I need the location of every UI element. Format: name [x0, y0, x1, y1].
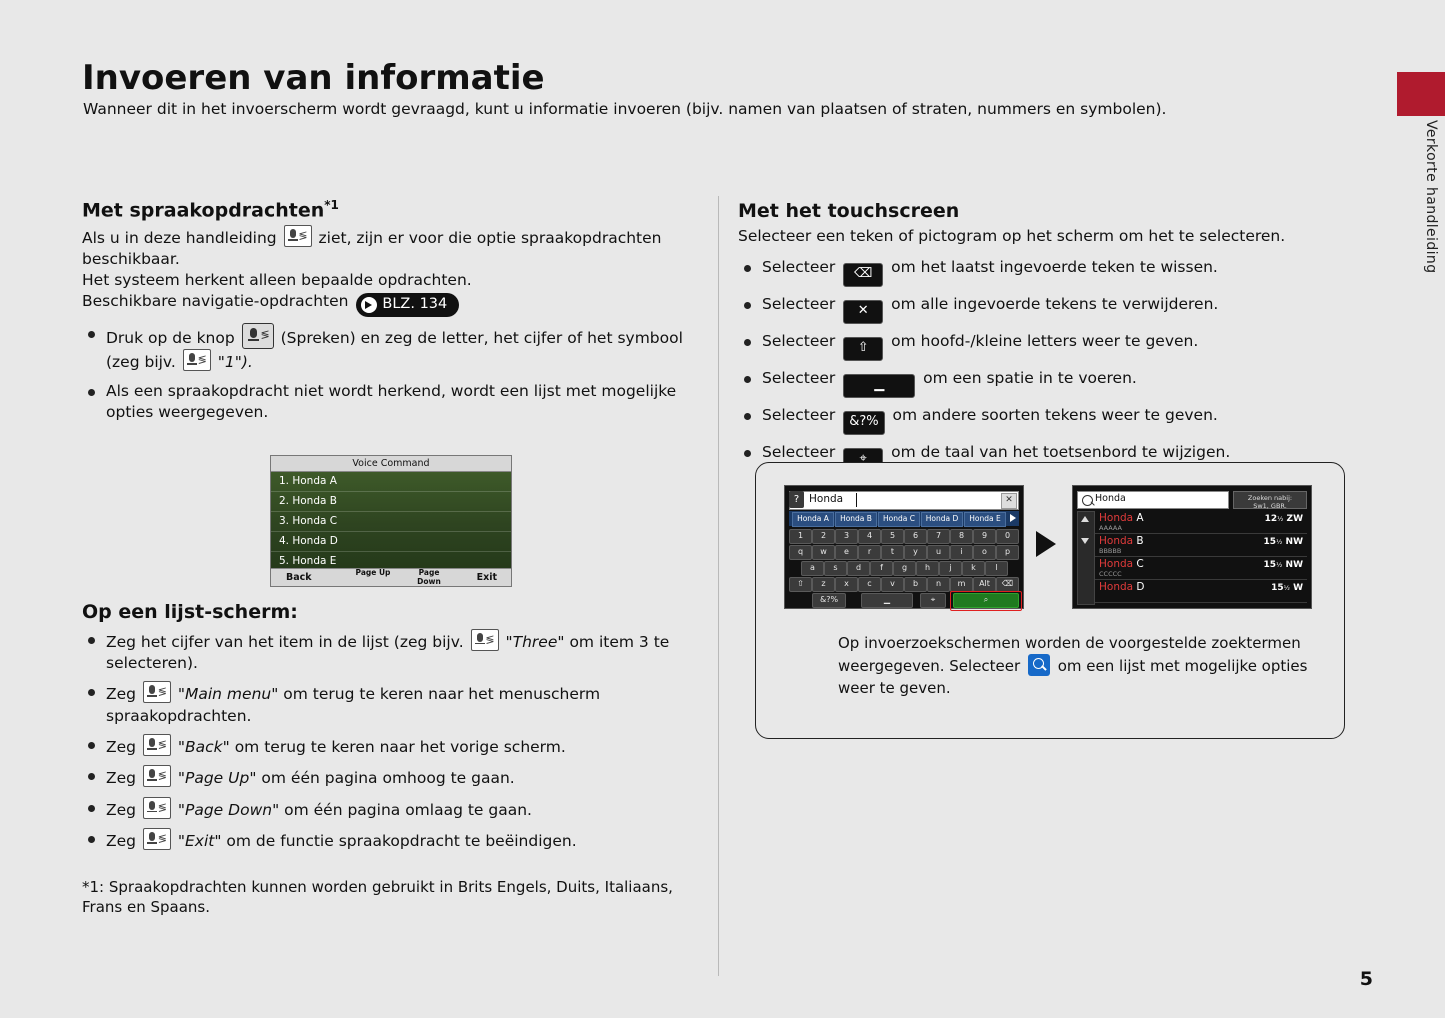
tb2-post: om hoofd-/kleine letters weer te geven. — [891, 332, 1198, 350]
mic-wave-glyph: ≶ — [158, 832, 167, 846]
suggestion-bar: Honda A Honda B Honda C Honda D Honda E — [789, 511, 1019, 526]
key-l[interactable]: l — [985, 561, 1008, 576]
mic-wave-glyph: ≶ — [158, 685, 167, 699]
mic-icon: ≶ — [183, 349, 211, 371]
page-down-button[interactable]: Page Down — [406, 568, 452, 586]
list-item: Selecteer ⇧ om hoofd-/kleine letters wee… — [738, 331, 1358, 361]
lb5-quote: Exit — [185, 832, 214, 850]
talk-button-icon: ≶ — [242, 323, 274, 349]
key-x[interactable]: x — [835, 577, 858, 592]
arrow-right-icon — [361, 297, 377, 313]
voice-command-footer: Back Page Up Page Down Exit — [271, 568, 511, 586]
list-item: 4. Honda D — [271, 532, 511, 552]
search-near-badge[interactable]: Zoeken nabij: Sw1, GBR. — [1233, 491, 1307, 509]
lb5-post: om de functie spraakopdracht te beëindig… — [226, 832, 576, 850]
result-name: Honda B — [1099, 535, 1144, 547]
section-title-touchscreen: Met het touchscreen — [738, 200, 1358, 222]
list-item: Selecteer ⌫ om het laatst ingevoerde tek… — [738, 257, 1358, 287]
search-input-value: Honda — [1095, 493, 1126, 504]
lb4-quote: Page Down — [185, 801, 272, 819]
key-o[interactable]: o — [973, 545, 996, 560]
tb2-pre: Selecteer — [762, 332, 835, 350]
mic-icon: ≶ — [143, 681, 171, 703]
suggestion-item[interactable]: Honda C — [878, 512, 920, 527]
lb1-post: om terug te keren naar het menuscherm sp… — [106, 685, 600, 724]
scrollbar[interactable] — [1077, 511, 1095, 605]
list-item: Zeg ≶ "Page Down" om één pagina omlaag t… — [82, 797, 702, 821]
back-button[interactable]: Back — [286, 572, 312, 583]
mic-wave-glyph: ≶ — [298, 229, 307, 243]
result-direction: NW — [1286, 537, 1303, 547]
space-bar-icon[interactable]: ▁ — [861, 593, 913, 608]
mic-icon: ≶ — [284, 225, 312, 247]
tb0-post: om het laatst ingevoerde teken te wissen… — [891, 258, 1218, 276]
bullet1-a: Druk op de knop — [106, 329, 235, 347]
result-distance-unit: ½ — [1277, 515, 1283, 523]
result-name-suffix: D — [1133, 581, 1144, 593]
mic-icon: ≶ — [143, 797, 171, 819]
symbols-icon[interactable]: &?% — [843, 411, 884, 435]
keyboard-row-q: q w e r t y u i o p — [789, 545, 1019, 559]
key-g[interactable]: g — [893, 561, 916, 576]
close-icon[interactable]: ✕ — [1001, 493, 1017, 509]
key-w[interactable]: w — [812, 545, 835, 560]
key-b[interactable]: b — [904, 577, 927, 592]
result-name-suffix: C — [1133, 558, 1144, 570]
list-item: Zeg ≶ "Main menu" om terug te keren naar… — [82, 681, 702, 727]
search-key-highlight — [950, 591, 1022, 611]
result-distance-value: 15 — [1264, 560, 1277, 570]
voice-intro-a: Als u in deze handleiding — [82, 229, 277, 247]
result-name-highlight: Honda — [1099, 558, 1133, 570]
tb3-pre: Selecteer — [762, 369, 835, 387]
result-distance-value: 12 — [1265, 514, 1278, 524]
table-row[interactable]: Honda D 15½ W — [1095, 580, 1307, 603]
backspace-icon[interactable]: ⌫ — [843, 263, 883, 287]
suggestion-next-icon[interactable] — [1010, 514, 1016, 522]
section-title-voice: Met spraakopdrachten*1 — [82, 198, 702, 221]
list-item: Zeg ≶ "Back" om terug te keren naar het … — [82, 734, 702, 758]
key-f[interactable]: f — [870, 561, 893, 576]
result-direction: W — [1293, 583, 1303, 593]
touchscreen-intro: Selecteer een teken of pictogram op het … — [738, 226, 1358, 247]
mic-wave-glyph: ≶ — [485, 633, 494, 647]
result-distance-unit: ½ — [1276, 561, 1282, 569]
talk-wave-glyph: ≶ — [260, 327, 269, 343]
result-subtext: BBBBB — [1099, 547, 1121, 555]
section-title-list-screen: Op een lijst-scherm: — [82, 601, 702, 623]
key-u[interactable]: u — [927, 545, 950, 560]
key-h[interactable]: h — [916, 561, 939, 576]
result-name: Honda A — [1099, 512, 1144, 524]
lb5-pre: Zeg — [106, 832, 136, 850]
tb1-post: om alle ingevoerde tekens te verwijderen… — [891, 295, 1218, 313]
tb3-post: om een spatie in te voeren. — [923, 369, 1137, 387]
result-name-suffix: B — [1133, 535, 1144, 547]
result-distance: 15½ NW — [1264, 560, 1303, 570]
key-i[interactable]: i — [950, 545, 973, 560]
key-v[interactable]: v — [881, 577, 904, 592]
key-t[interactable]: t — [881, 545, 904, 560]
list-item: Selecteer &?% om andere soorten tekens w… — [738, 405, 1358, 435]
page-reference-label: BLZ. 134 — [382, 296, 447, 312]
result-distance-unit: ½ — [1284, 584, 1290, 592]
page-number: 5 — [1360, 968, 1373, 990]
search-icon — [1082, 495, 1093, 506]
result-distance-value: 15 — [1264, 537, 1277, 547]
section-title-voice-text: Met spraakopdrachten — [82, 199, 324, 221]
result-distance: 12½ ZW — [1265, 514, 1303, 524]
voice-line2: Het systeem herkent alleen bepaalde opdr… — [82, 270, 702, 291]
result-subtext: AAAAA — [1099, 524, 1122, 532]
scroll-down-icon[interactable] — [1081, 538, 1089, 544]
key-p[interactable]: p — [996, 545, 1019, 560]
clear-all-icon[interactable]: ✕ — [843, 300, 883, 324]
voice-intro-paragraph: Als u in deze handleiding ≶ ziet, zijn e… — [82, 225, 702, 270]
globe-language-icon[interactable]: ⌖ — [920, 593, 946, 608]
suggestion-item[interactable]: Honda E — [964, 512, 1006, 527]
mic-wave-glyph: ≶ — [198, 353, 207, 367]
results-screen: Honda Zoeken nabij: Sw1, GBR. Honda A AA… — [1072, 485, 1312, 609]
touchscreen-bullets: Selecteer ⌫ om het laatst ingevoerde tek… — [738, 257, 1358, 472]
list-item: 1. Honda A — [271, 472, 511, 492]
side-tab-marker — [1397, 72, 1445, 116]
key-z[interactable]: z — [812, 577, 835, 592]
column-divider — [718, 196, 719, 976]
side-tab-label: Verkorte handleiding — [1409, 120, 1439, 350]
mic-icon: ≶ — [143, 765, 171, 787]
voice-command-screenshot: Voice Command 1. Honda A 2. Honda B 3. H… — [270, 455, 512, 587]
key-e[interactable]: e — [835, 545, 858, 560]
voice-line3-wrap: Beschikbare navigatie-opdrachten BLZ. 13… — [82, 291, 702, 317]
key-q[interactable]: q — [789, 545, 812, 560]
bullet1-c: "1"). — [218, 353, 253, 371]
help-icon[interactable]: ? — [789, 491, 804, 508]
tb5-post: om de taal van het toetsenbord te wijzig… — [891, 443, 1230, 461]
keyboard-row-bottom: &?% ▁ ⌖ ⌕ — [789, 593, 1019, 607]
footnote-text: *1: Spraakopdrachten kunnen worden gebru… — [82, 877, 702, 918]
text-cursor — [856, 493, 857, 507]
suggestion-item[interactable]: Honda B — [835, 512, 877, 527]
list-item: Druk op de knop ≶ (Spreken) en zeg de le… — [82, 323, 702, 374]
key-r[interactable]: r — [858, 545, 881, 560]
key-4[interactable]: 4 — [858, 529, 881, 544]
mic-wave-glyph: ≶ — [158, 769, 167, 783]
shift-icon[interactable]: ⇧ — [843, 337, 883, 361]
mic-icon: ≶ — [143, 828, 171, 850]
voice-command-title: Voice Command — [271, 456, 511, 472]
lb0-pre: Zeg het cijfer van het item in de lijst … — [106, 633, 464, 651]
key-3[interactable]: 3 — [835, 529, 858, 544]
lb4-post: om één pagina omlaag te gaan. — [284, 801, 532, 819]
result-name-highlight: Honda — [1099, 535, 1133, 547]
tb4-post: om andere soorten tekens weer te geven. — [893, 406, 1218, 424]
key-n[interactable]: n — [927, 577, 950, 592]
voice-bullet-list: Druk op de knop ≶ (Spreken) en zeg de le… — [82, 323, 702, 424]
keyboard-row-numbers: 1 2 3 4 5 6 7 8 9 0 — [789, 529, 1019, 543]
lb3-post: om één pagina omhoog te gaan. — [261, 769, 514, 787]
list-screen-bullets: Zeg het cijfer van het item in de lijst … — [82, 629, 702, 853]
search-input-value: Honda — [809, 493, 843, 505]
result-name-suffix: A — [1133, 512, 1144, 524]
key-a[interactable]: a — [801, 561, 824, 576]
search-example-box: ? Honda ✕ Honda A Honda B Honda C Honda … — [755, 462, 1345, 739]
key-m[interactable]: m — [950, 577, 973, 592]
page-subtitle: Wanneer dit in het invoerscherm wordt ge… — [83, 100, 1213, 118]
key-alt[interactable]: Alt — [973, 577, 996, 592]
search-input[interactable]: Honda — [1077, 491, 1229, 509]
key-9[interactable]: 9 — [973, 529, 996, 544]
lb0-quote: Three — [513, 633, 558, 651]
list-item: Zeg ≶ "Exit" om de functie spraakopdrach… — [82, 828, 702, 852]
mic-icon: ≶ — [143, 734, 171, 756]
key-c[interactable]: c — [858, 577, 881, 592]
search-input[interactable]: ? Honda ✕ — [789, 491, 1019, 510]
list-item: Selecteer ✕ om alle ingevoerde tekens te… — [738, 294, 1358, 324]
list-item: Zeg het cijfer van het item in de lijst … — [82, 629, 702, 675]
lb2-pre: Zeg — [106, 738, 136, 756]
voice-command-rows: 1. Honda A 2. Honda B 3. Honda C 4. Hond… — [271, 472, 511, 568]
tb4-pre: Selecteer — [762, 406, 835, 424]
lb3-quote: Page Up — [185, 769, 249, 787]
result-distance-unit: ½ — [1276, 538, 1282, 546]
result-distance: 15½ NW — [1264, 537, 1303, 547]
key-2[interactable]: 2 — [812, 529, 835, 544]
tb5-pre: Selecteer — [762, 443, 835, 461]
key-0[interactable]: 0 — [996, 529, 1019, 544]
lb2-post: om terug te keren naar het vorige scherm… — [235, 738, 566, 756]
right-column: Met het touchscreen Selecteer een teken … — [738, 200, 1358, 479]
footnote-marker: *1 — [324, 198, 339, 212]
results-list: Honda A AAAAA 12½ ZW Honda B BBBBB 15½ N… — [1095, 511, 1307, 608]
lb2-quote: Back — [185, 738, 223, 756]
key-s[interactable]: s — [824, 561, 847, 576]
bullet2-a: Als een spraakopdracht niet wordt herken… — [106, 382, 676, 421]
symbols-icon[interactable]: &?% — [812, 593, 846, 608]
key-7[interactable]: 7 — [927, 529, 950, 544]
lb3-pre: Zeg — [106, 769, 136, 787]
list-item: Zeg ≶ "Page Up" om één pagina omhoog te … — [82, 765, 702, 789]
result-name: Honda C — [1099, 558, 1144, 570]
list-item: Als een spraakopdracht niet wordt herken… — [82, 381, 702, 424]
table-row[interactable]: Honda B BBBBB 15½ NW — [1095, 534, 1307, 557]
suggestion-item[interactable]: Honda A — [792, 512, 834, 527]
search-example-caption: Op invoerzoekschermen worden de voorgest… — [838, 633, 1308, 699]
tb1-pre: Selecteer — [762, 295, 835, 313]
search-icon — [1028, 654, 1050, 676]
voice-line3: Beschikbare navigatie-opdrachten — [82, 292, 348, 310]
result-subtext: CCCCC — [1099, 570, 1122, 578]
lb4-pre: Zeg — [106, 801, 136, 819]
suggestion-item[interactable]: Honda D — [921, 512, 963, 527]
key-5[interactable]: 5 — [881, 529, 904, 544]
result-distance-value: 15 — [1271, 583, 1284, 593]
mic-wave-glyph: ≶ — [158, 801, 167, 815]
table-row[interactable]: Honda A AAAAA 12½ ZW — [1095, 511, 1307, 534]
key-d[interactable]: d — [847, 561, 870, 576]
result-name-highlight: Honda — [1099, 512, 1133, 524]
keyboard-row-z: ⇧ z x c v b n m Alt ⌫ — [789, 577, 1019, 591]
arrow-right-icon — [1036, 531, 1056, 557]
page-reference-link[interactable]: BLZ. 134 — [356, 293, 459, 317]
mic-icon: ≶ — [471, 629, 499, 651]
exit-button[interactable]: Exit — [477, 572, 497, 583]
keyboard-screen: ? Honda ✕ Honda A Honda B Honda C Honda … — [784, 485, 1024, 609]
space-bar-icon[interactable]: ▁ — [843, 374, 915, 398]
search-near-line1: Zoeken nabij: — [1234, 494, 1306, 502]
result-name: Honda D — [1099, 581, 1145, 593]
lb1-pre: Zeg — [106, 685, 136, 703]
manual-page: Verkorte handleiding Invoeren van inform… — [0, 0, 1445, 1018]
keyboard-row-a: a s d f g h j k l — [789, 561, 1019, 575]
page-up-button[interactable]: Page Up — [353, 568, 393, 577]
list-item: 3. Honda C — [271, 512, 511, 532]
key-1[interactable]: 1 — [789, 529, 812, 544]
search-near-line2: Sw1, GBR. — [1234, 502, 1306, 510]
key-j[interactable]: j — [939, 561, 962, 576]
shift-icon[interactable]: ⇧ — [789, 577, 812, 592]
mic-wave-glyph: ≶ — [158, 738, 167, 752]
key-6[interactable]: 6 — [904, 529, 927, 544]
result-direction: NW — [1286, 560, 1303, 570]
result-distance: 15½ W — [1271, 583, 1303, 593]
result-direction: ZW — [1287, 514, 1303, 524]
lb1-quote: Main menu — [185, 685, 271, 703]
scroll-up-icon[interactable] — [1081, 516, 1089, 522]
key-k[interactable]: k — [962, 561, 985, 576]
key-y[interactable]: y — [904, 545, 927, 560]
key-8[interactable]: 8 — [950, 529, 973, 544]
page-title: Invoeren van informatie — [82, 58, 545, 98]
list-item: Selecteer ▁ om een spatie in te voeren. — [738, 368, 1358, 398]
table-row[interactable]: Honda C CCCCC 15½ NW — [1095, 557, 1307, 580]
backspace-icon[interactable]: ⌫ — [996, 577, 1019, 592]
result-name-highlight: Honda — [1099, 581, 1133, 593]
tb0-pre: Selecteer — [762, 258, 835, 276]
list-item: 2. Honda B — [271, 492, 511, 512]
